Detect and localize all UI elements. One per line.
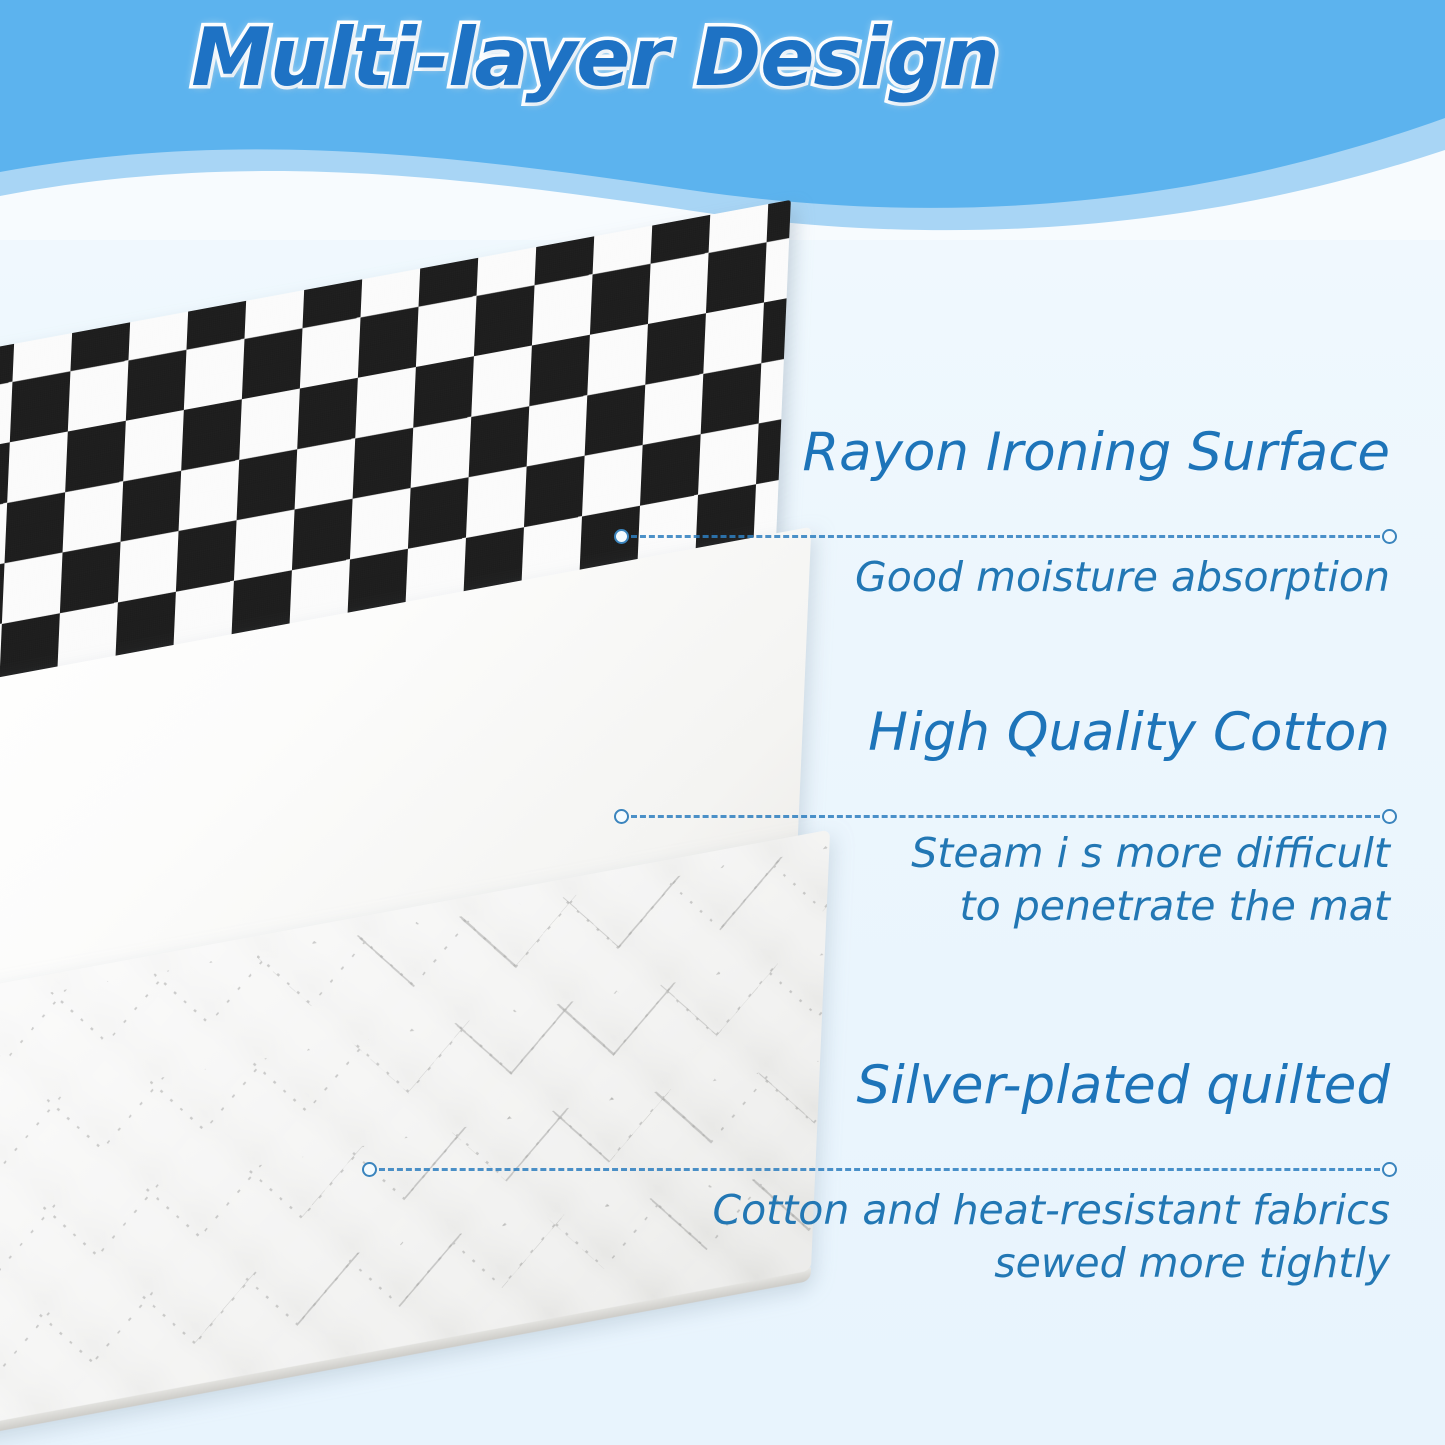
callout-cotton-subtext-line-1: Steam i s more difficult bbox=[911, 827, 1390, 880]
callout-quilted-subtext-line-2: sewed more tightly bbox=[712, 1237, 1390, 1290]
callout-quilted-heading: Silver-plated quilted bbox=[856, 1058, 1390, 1114]
callout-rayon-subtext-line-1: Good moisture absorption bbox=[855, 551, 1390, 604]
infographic-canvas: Multi-layer Design Rayon Ironing Surface… bbox=[0, 0, 1445, 1445]
header-banner: Multi-layer Design bbox=[0, 0, 1445, 240]
leader-dash-icon bbox=[631, 815, 1380, 818]
callout-quilted-leader-line bbox=[362, 1162, 1397, 1176]
callout-cotton-subtext-line-2: to penetrate the mat bbox=[911, 880, 1390, 933]
callout-rayon-leader-line bbox=[614, 529, 1397, 543]
leader-node-left-icon bbox=[614, 809, 629, 824]
leader-node-left-icon bbox=[362, 1162, 377, 1177]
callout-quilted-subtext: Cotton and heat-resistant fabrics sewed … bbox=[712, 1184, 1390, 1291]
leader-dash-icon bbox=[379, 1168, 1380, 1171]
leader-node-left-icon bbox=[614, 529, 629, 544]
leader-node-right-icon bbox=[1382, 529, 1397, 544]
callout-cotton-heading: High Quality Cotton bbox=[868, 705, 1390, 761]
callout-cotton-leader-line bbox=[614, 809, 1397, 823]
leader-node-right-icon bbox=[1382, 809, 1397, 824]
callout-cotton-subtext: Steam i s more difficult to penetrate th… bbox=[911, 827, 1390, 934]
leader-dash-icon bbox=[631, 535, 1380, 538]
page-title: Multi-layer Design bbox=[0, 14, 1190, 102]
callout-quilted-subtext-line-1: Cotton and heat-resistant fabrics bbox=[712, 1184, 1390, 1237]
callout-rayon: Rayon Ironing Surface Good moisture abso… bbox=[0, 425, 1445, 625]
leader-node-right-icon bbox=[1382, 1162, 1397, 1177]
callout-rayon-subtext: Good moisture absorption bbox=[855, 551, 1390, 604]
callout-quilted: Silver-plated quilted Cotton and heat-re… bbox=[0, 1058, 1445, 1288]
callout-cotton: High Quality Cotton Steam i s more diffi… bbox=[0, 705, 1445, 935]
callout-rayon-heading: Rayon Ironing Surface bbox=[802, 425, 1390, 481]
